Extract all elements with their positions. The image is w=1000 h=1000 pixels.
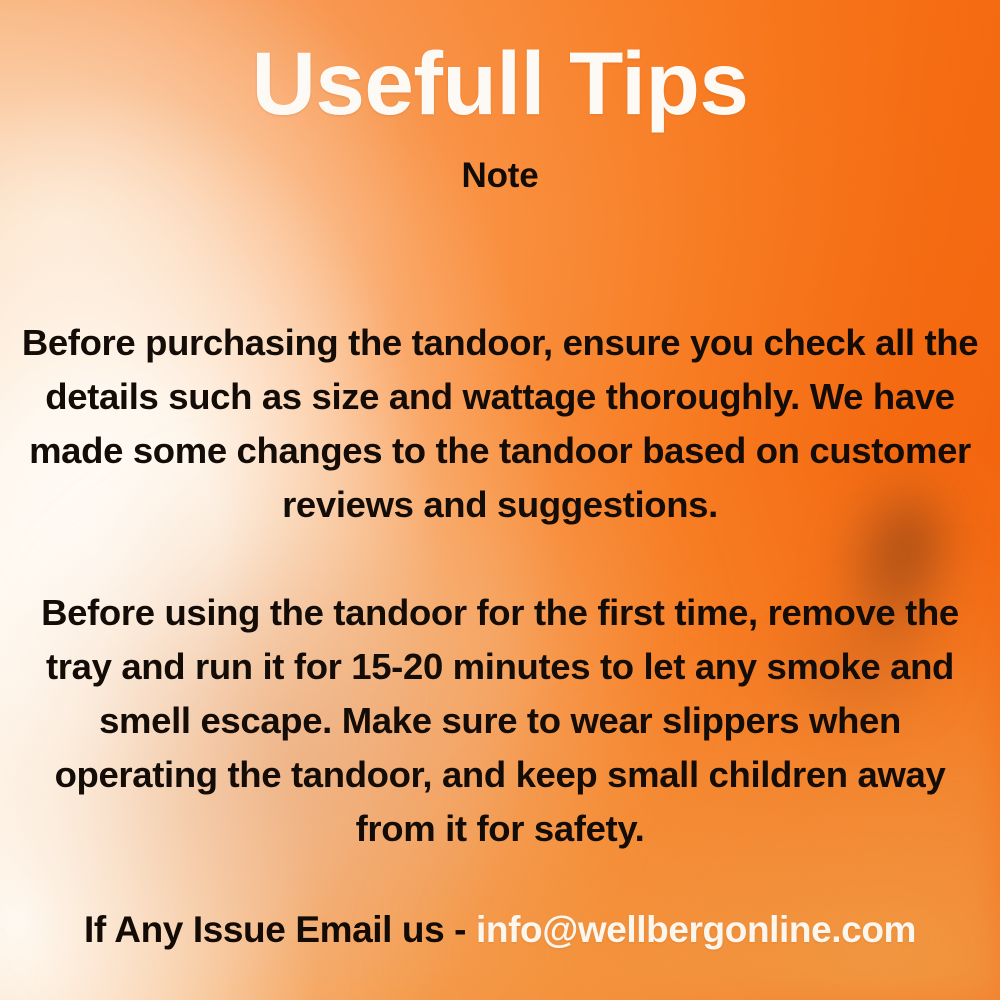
body-text-block: Before purchasing the tandoor, ensure yo… xyxy=(18,316,982,856)
paragraph-first-use-safety: Before using the tandoor for the first t… xyxy=(18,586,982,856)
footer-contact-line: If Any Issue Email us - info@wellbergonl… xyxy=(16,905,984,955)
page-title: Usefull Tips xyxy=(0,36,1000,130)
footer-email-address[interactable]: info@wellbergonline.com xyxy=(476,909,916,950)
footer-lead-text: If Any Issue Email us - xyxy=(84,909,476,950)
poster-content: Usefull Tips Note Before purchasing the … xyxy=(0,0,1000,1000)
page-subtitle: Note xyxy=(0,157,1000,196)
poster-canvas: Usefull Tips Note Before purchasing the … xyxy=(0,0,1000,1000)
paragraph-purchase-advice: Before purchasing the tandoor, ensure yo… xyxy=(18,316,982,532)
